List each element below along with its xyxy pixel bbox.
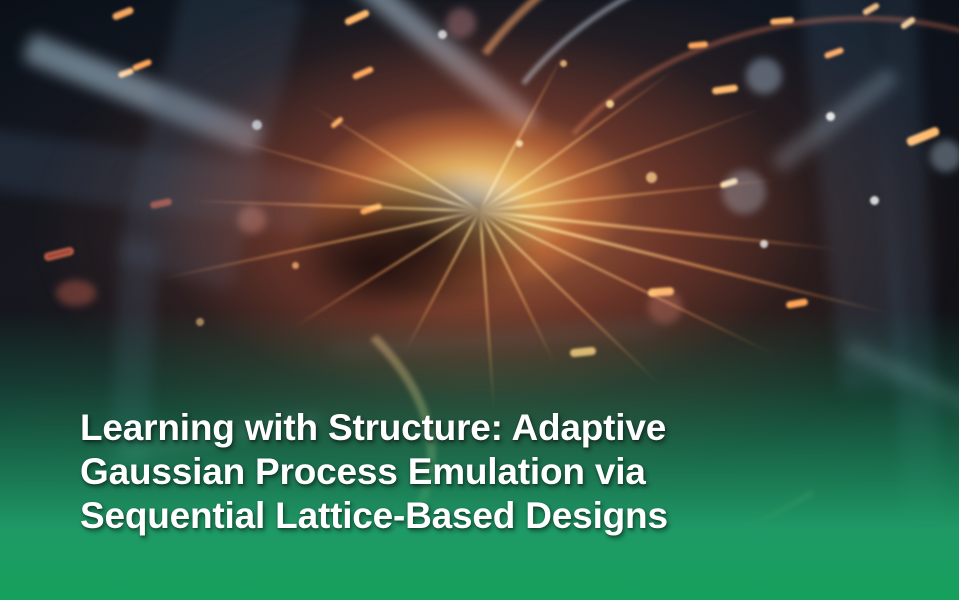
title-line-2: Gaussian Process Emulation via bbox=[80, 450, 840, 494]
title-banner: Learning with Structure: Adaptive Gaussi… bbox=[0, 0, 959, 600]
title-line-1: Learning with Structure: Adaptive bbox=[80, 406, 840, 450]
title-line-3: Sequential Lattice-Based Designs bbox=[80, 494, 840, 538]
page-title: Learning with Structure: Adaptive Gaussi… bbox=[80, 406, 840, 538]
